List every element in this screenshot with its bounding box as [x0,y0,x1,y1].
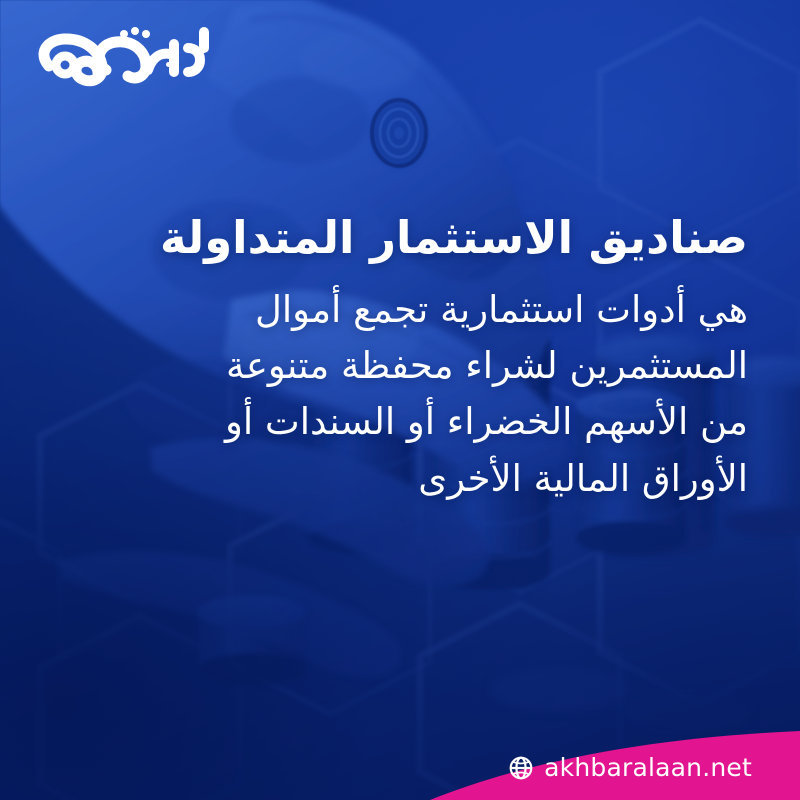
body-line-2: المستثمرين لشراء محفظة متنوعة [60,338,748,394]
body-line-1: هي أدوات استثمارية تجمع أموال [60,282,748,338]
globe-icon [508,755,534,781]
url-text: akhbaralaan.net [544,753,752,782]
brand-logo[interactable]: أخبار الآن [28,18,214,90]
body-line-4: الأوراق المالية الأخرى [60,451,748,507]
body-paragraph: هي أدوات استثمارية تجمع أموال المستثمرين… [60,282,748,507]
headline-line-1: صناديق الاستثمار [370,211,748,264]
headline-line-2: المتداولة [160,211,354,264]
page-title: صناديق الاستثمار المتداولة [60,206,748,270]
website-url[interactable]: akhbaralaan.net [508,753,752,782]
akhbar-alaan-logo-icon: أخبار الآن [28,18,214,90]
text-content: صناديق الاستثمار المتداولة هي أدوات استث… [60,206,748,507]
body-line-3: من الأسهم الخضراء أو السندات أو [60,394,748,450]
social-card: أخبار الآن صناديق الاستثمار المتداولة هي… [0,0,800,800]
